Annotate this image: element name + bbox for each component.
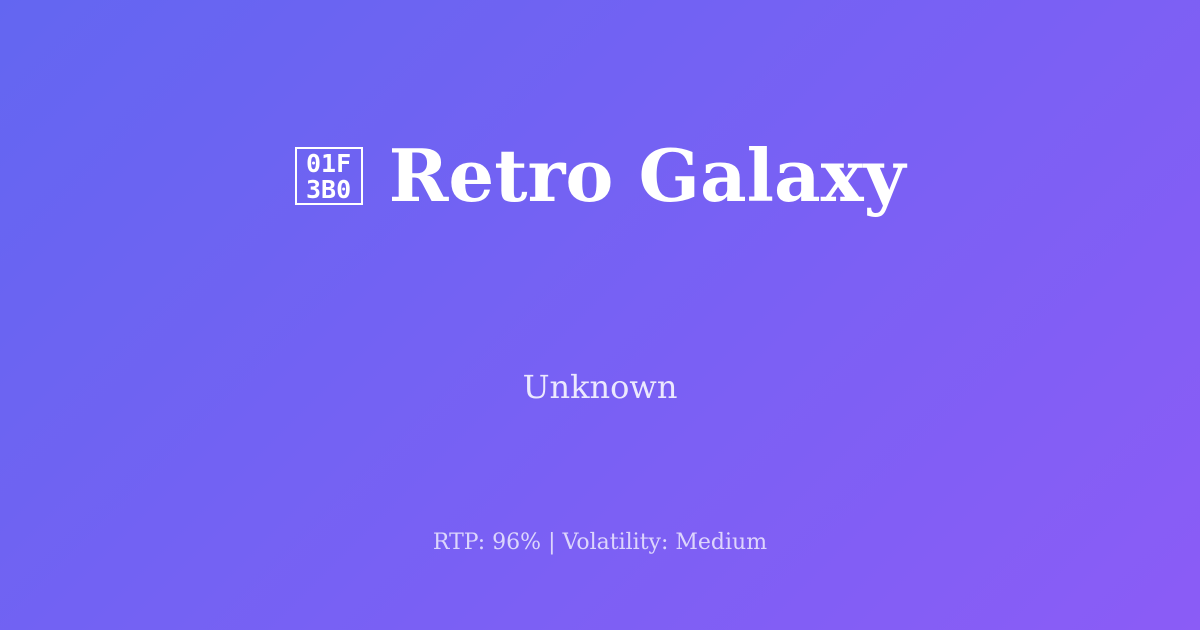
og-share-card: 01F 3B0 Retro Galaxy Unknown RTP: 96% | … xyxy=(0,0,1200,630)
page-title: Retro Galaxy xyxy=(389,140,906,212)
slot-machine-icon: 01F 3B0 xyxy=(295,147,363,205)
tofu-codepoint-top: 01F xyxy=(306,151,351,177)
tofu-codepoint-bottom: 3B0 xyxy=(306,177,351,203)
game-stats-line: RTP: 96% | Volatility: Medium xyxy=(0,528,1200,558)
provider-subtitle: Unknown xyxy=(0,366,1200,408)
title-row: 01F 3B0 Retro Galaxy xyxy=(0,0,1200,340)
